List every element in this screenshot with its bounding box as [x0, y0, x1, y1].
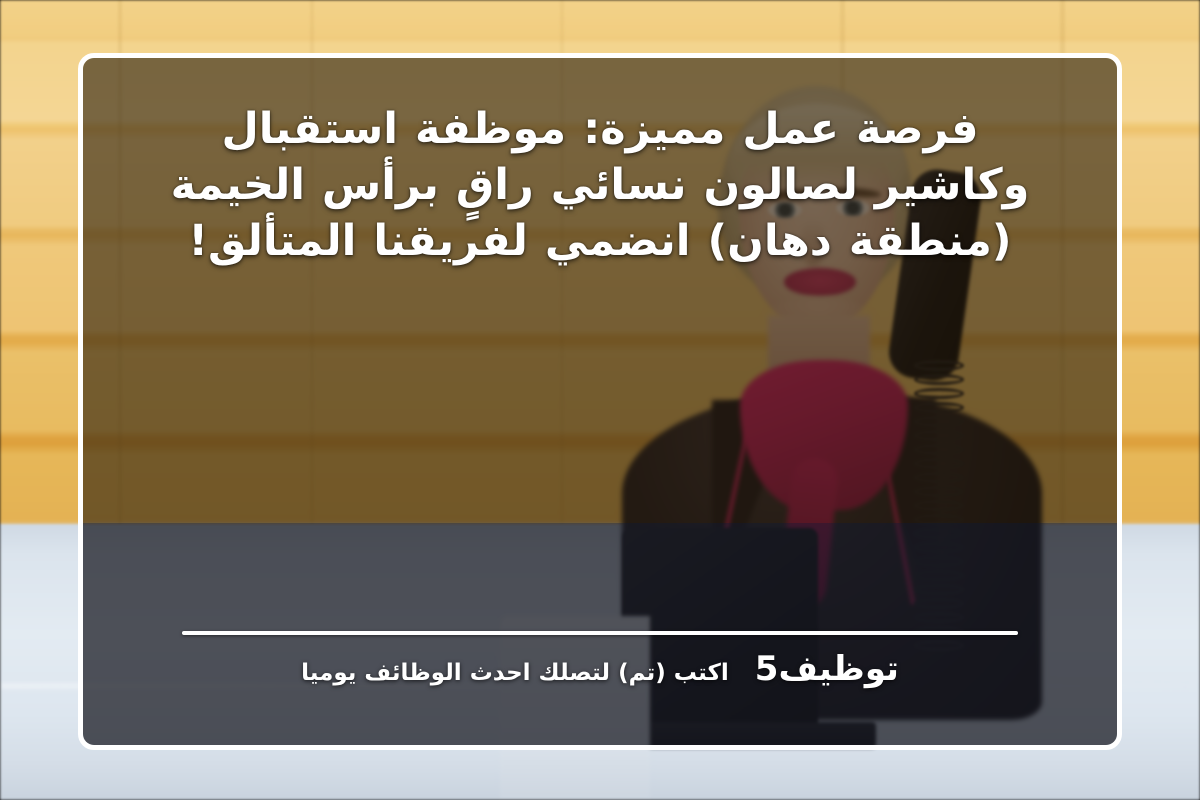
banner-stage: فرصة عمل مميزة: موظفة استقبال وكاشير لصا… [0, 0, 1200, 800]
content-card: فرصة عمل مميزة: موظفة استقبال وكاشير لصا… [78, 53, 1122, 750]
card-content: فرصة عمل مميزة: موظفة استقبال وكاشير لصا… [83, 58, 1117, 745]
brand-name: توظيف5 [755, 649, 899, 689]
content-spacer [111, 270, 1089, 631]
divider-rule [182, 631, 1018, 635]
footer-bar: توظيف5 اكتب (تم) لتصلك احدث الوظائف يومي… [111, 649, 1089, 725]
headline: فرصة عمل مميزة: موظفة استقبال وكاشير لصا… [111, 102, 1089, 270]
subscribe-tagline: اكتب (تم) لتصلك احدث الوظائف يوميا [301, 660, 729, 686]
